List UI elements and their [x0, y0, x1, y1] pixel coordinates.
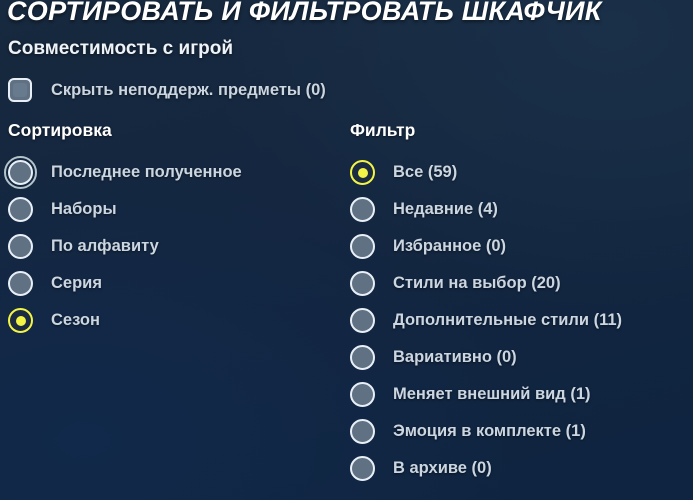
radio-unselected-icon[interactable] — [350, 345, 375, 370]
sort-option-0[interactable]: Последнее полученное — [8, 154, 338, 191]
filter-option-2[interactable]: Избранное (0) — [350, 228, 686, 265]
subtitle-game-compatibility: Совместимость с игрой — [8, 38, 233, 60]
filter-option-1[interactable]: Недавние (4) — [350, 191, 686, 228]
page-title: СОРТИРОВАТЬ И ФИЛЬТРОВАТЬ ШКАФЧИК — [7, 0, 647, 26]
filter-option-label: Вариативно (0) — [393, 348, 517, 367]
sort-column: Сортировка Последнее полученноеНаборыПо … — [8, 120, 338, 339]
filter-option-label: Меняет внешний вид (1) — [393, 385, 591, 404]
sort-option-label: Наборы — [51, 200, 117, 219]
sort-option-label: Сезон — [51, 311, 100, 330]
filter-option-list: Все (59)Недавние (4)Избранное (0)Стили н… — [350, 154, 686, 487]
sort-filter-locker-panel: СОРТИРОВАТЬ И ФИЛЬТРОВАТЬ ШКАФЧИК Совмес… — [0, 0, 693, 500]
radio-unselected-icon[interactable] — [8, 234, 33, 259]
sort-option-label: Последнее полученное — [51, 163, 242, 182]
radio-selected-icon[interactable] — [8, 308, 33, 333]
filter-option-4[interactable]: Дополнительные стили (11) — [350, 302, 686, 339]
sort-option-label: Серия — [51, 274, 102, 293]
filter-option-label: В архиве (0) — [393, 459, 492, 478]
checkbox-icon[interactable] — [8, 78, 32, 102]
sort-option-2[interactable]: По алфавиту — [8, 228, 338, 265]
radio-unselected-icon[interactable] — [350, 197, 375, 222]
sort-option-4[interactable]: Сезон — [8, 302, 338, 339]
filter-option-5[interactable]: Вариативно (0) — [350, 339, 686, 376]
sort-option-1[interactable]: Наборы — [8, 191, 338, 228]
radio-unselected-icon[interactable] — [350, 382, 375, 407]
hide-unsupported-items-row[interactable]: Скрыть неподдерж. предметы (0) — [8, 76, 326, 104]
sort-option-list: Последнее полученноеНаборыПо алфавитуСер… — [8, 154, 338, 339]
sort-option-3[interactable]: Серия — [8, 265, 338, 302]
filter-option-label: Все (59) — [393, 163, 457, 182]
filter-option-8[interactable]: В архиве (0) — [350, 450, 686, 487]
radio-unselected-icon[interactable] — [8, 160, 33, 185]
radio-selected-icon[interactable] — [350, 160, 375, 185]
filter-column: Фильтр Все (59)Недавние (4)Избранное (0)… — [350, 120, 686, 487]
filter-option-label: Эмоция в комплекте (1) — [393, 422, 586, 441]
sort-column-header: Сортировка — [8, 120, 338, 140]
filter-option-label: Недавние (4) — [393, 200, 498, 219]
filter-option-label: Стили на выбор (20) — [393, 274, 561, 293]
filter-option-label: Дополнительные стили (11) — [393, 311, 622, 330]
filter-option-3[interactable]: Стили на выбор (20) — [350, 265, 686, 302]
radio-unselected-icon[interactable] — [350, 308, 375, 333]
filter-option-label: Избранное (0) — [393, 237, 506, 256]
filter-option-6[interactable]: Меняет внешний вид (1) — [350, 376, 686, 413]
filter-option-0[interactable]: Все (59) — [350, 154, 686, 191]
radio-unselected-icon[interactable] — [8, 271, 33, 296]
hide-unsupported-items-label: Скрыть неподдерж. предметы (0) — [51, 81, 326, 100]
radio-unselected-icon[interactable] — [350, 234, 375, 259]
radio-unselected-icon[interactable] — [350, 456, 375, 481]
radio-unselected-icon[interactable] — [350, 271, 375, 296]
radio-unselected-icon[interactable] — [8, 197, 33, 222]
radio-unselected-icon[interactable] — [350, 419, 375, 444]
filter-column-header: Фильтр — [350, 120, 686, 140]
filter-option-7[interactable]: Эмоция в комплекте (1) — [350, 413, 686, 450]
sort-option-label: По алфавиту — [51, 237, 159, 256]
